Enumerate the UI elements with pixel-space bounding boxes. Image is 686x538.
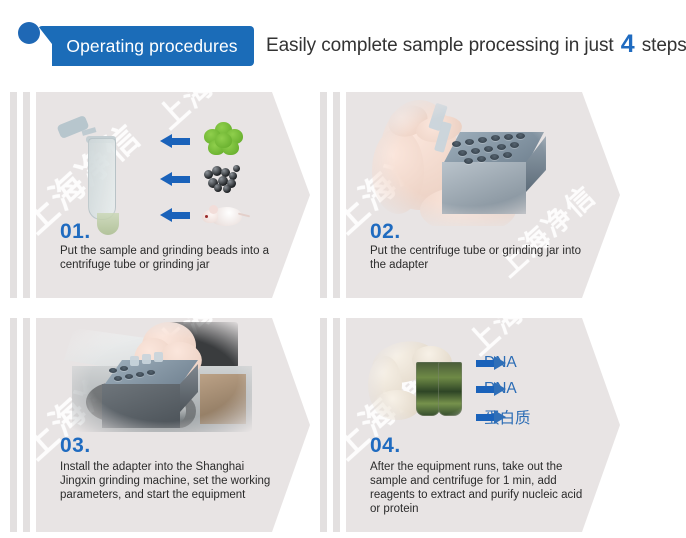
step-card-04: 上海净信 上海净信 DNA RNA 蛋白质 (320, 318, 620, 532)
hand-holding-adapter-photo (370, 98, 570, 226)
card-body: 上海净信 上海净信 03. Insta (36, 318, 310, 532)
adapter-in-machine-photo (64, 320, 264, 438)
badge-dot-icon (18, 22, 40, 44)
step-number: 02. (370, 220, 401, 244)
step-caption: Install the adapter into the Shanghai Ji… (60, 460, 275, 502)
badge-label: Operating procedures (54, 36, 237, 57)
right-arrow-icon (476, 410, 506, 424)
card-body: 上海净信 上海净信 DNA RNA 蛋白质 (346, 318, 620, 532)
title-prefix: Easily complete sample processing in jus… (266, 35, 614, 56)
step-caption: Put the sample and grinding beads into a… (60, 244, 275, 272)
title-step-count: 4 (619, 30, 637, 58)
card-stripe-outer (320, 318, 327, 532)
left-arrow-icon (160, 208, 190, 222)
tube-liquid (97, 213, 119, 235)
card-stripe-outer (320, 92, 327, 298)
gloved-hand-tubes-photo (368, 336, 488, 428)
output-row-protein: 蛋白质 (476, 406, 531, 428)
card-stripe-inner (23, 318, 30, 532)
tube-body (88, 138, 116, 220)
title-suffix: steps: (642, 35, 686, 56)
output-row-dna: DNA (476, 354, 517, 372)
right-arrow-icon (476, 356, 506, 370)
page-header: Operating procedures Easily complete sam… (0, 0, 686, 86)
step-caption: Put the centrifuge tube or grinding jar … (370, 244, 585, 272)
step-number: 03. (60, 434, 91, 458)
card-stripe-inner (333, 92, 340, 298)
card-stripe-outer (10, 92, 17, 298)
step-card-01: 上海净信 上海净信 (10, 92, 310, 298)
right-arrow-icon (476, 382, 506, 396)
step-number: 01. (60, 220, 91, 244)
step-card-03: 上海净信 上海净信 03. Insta (10, 318, 310, 532)
card-body: 上海净信 上海净信 (346, 92, 620, 298)
step-number: 04. (370, 434, 401, 458)
card-stripe-inner (23, 92, 30, 298)
step-card-02: 上海净信 上海净信 (320, 92, 620, 298)
centrifuge-tube-icon (82, 120, 116, 220)
leaf-sample-icon (202, 122, 244, 160)
page-title: Easily complete sample processing in jus… (266, 30, 686, 59)
card-stripe-outer (10, 318, 17, 532)
tube-cap (56, 115, 89, 139)
grinding-beads-icon (202, 162, 246, 196)
card-stripe-inner (333, 318, 340, 532)
operating-procedures-badge: Operating procedures (38, 26, 254, 66)
step-caption: After the equipment runs, take out the s… (370, 460, 585, 516)
left-arrow-icon (160, 172, 190, 186)
mouse-sample-icon (202, 200, 248, 230)
left-arrow-icon (160, 134, 190, 148)
output-row-rna: RNA (476, 380, 517, 398)
card-body: 上海净信 上海净信 (36, 92, 310, 298)
